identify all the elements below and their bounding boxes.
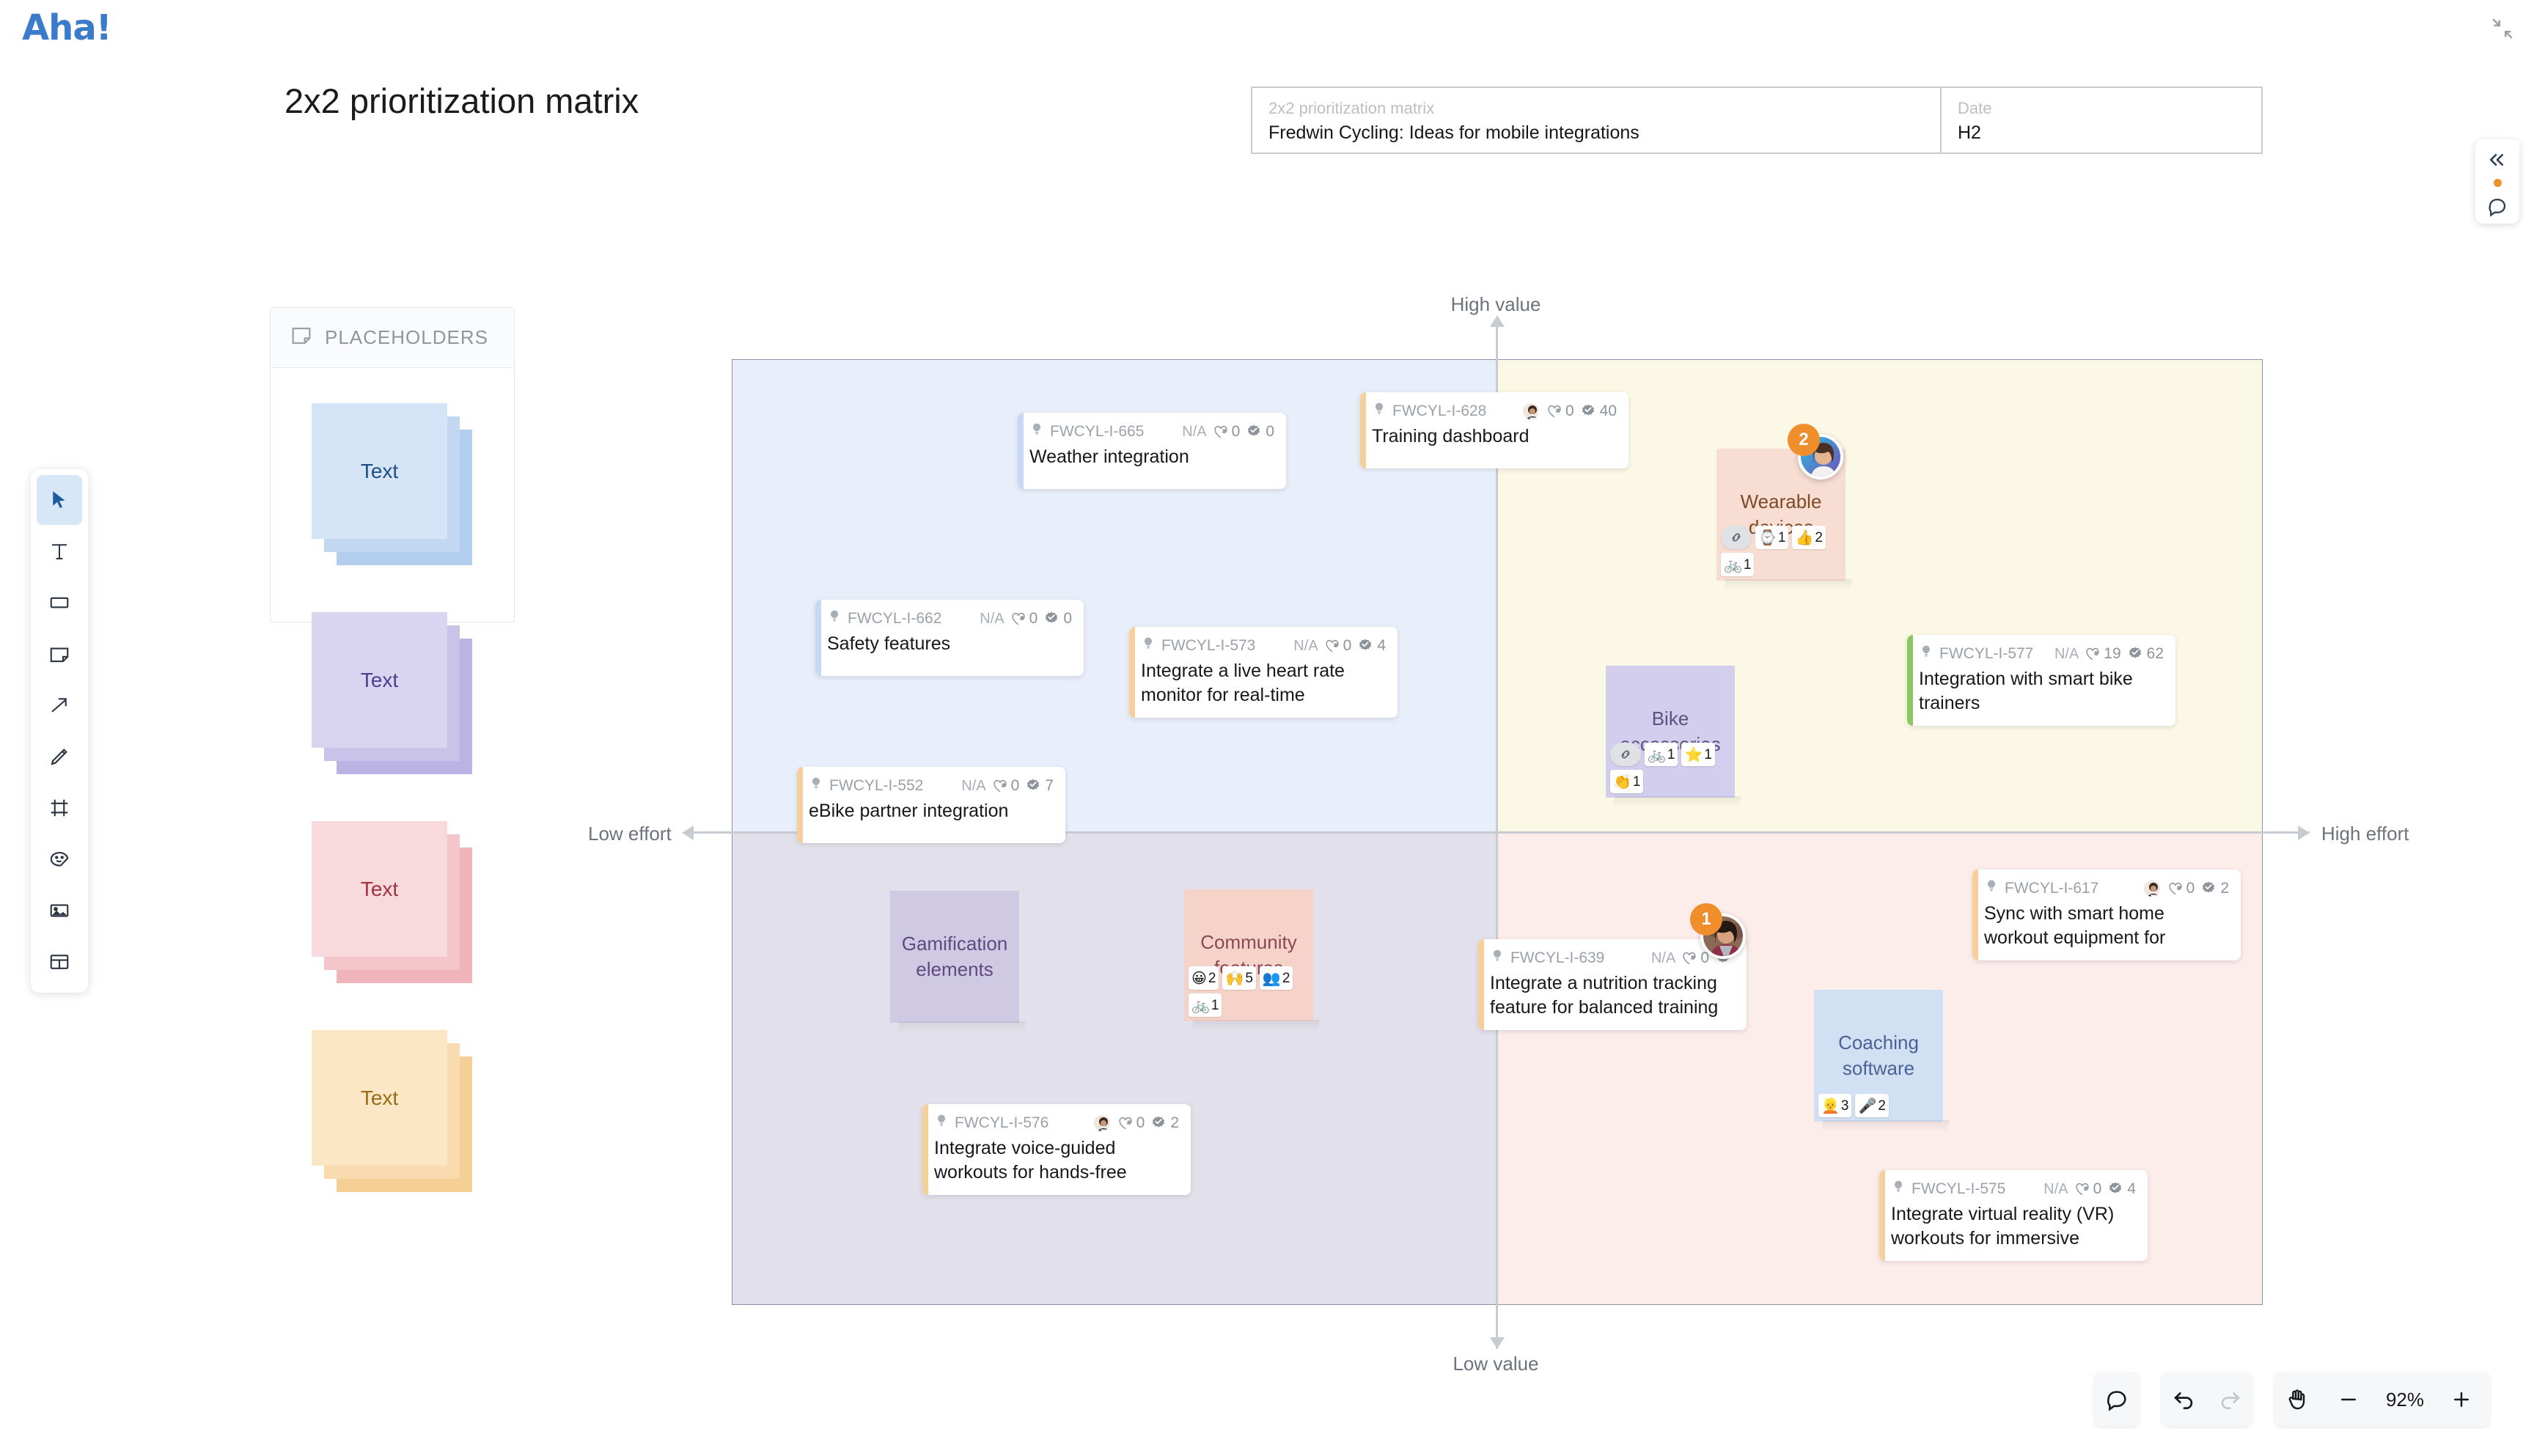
zoom-level-label[interactable]: 92% — [2371, 1389, 2439, 1411]
shape-tool[interactable] — [37, 578, 82, 628]
card-reference-id: FWCYL-I-665 — [1050, 423, 1144, 441]
idea-card[interactable]: FWCYL-I-665N/A00Weather integration — [1018, 413, 1286, 489]
card-reference-id: FWCYL-I-577 — [1939, 645, 2033, 663]
votes-count: 19 — [2085, 645, 2120, 663]
card-title: Sync with smart home workout equipment f… — [1984, 902, 2229, 950]
reaction-emoji: ⭐ — [1684, 742, 1703, 768]
info-cell-name[interactable]: 2x2 prioritization matrix Fredwin Cyclin… — [1252, 88, 1942, 152]
assignee-avatar[interactable] — [1521, 402, 1540, 421]
score-count: 62 — [2127, 645, 2164, 663]
axis-label-high-effort: High effort — [2321, 823, 2409, 845]
card-score-value: N/A — [2043, 1181, 2068, 1198]
reaction-chip[interactable]: ⌚1 — [1755, 526, 1788, 549]
reaction-count: 1 — [1667, 742, 1675, 768]
undo-icon[interactable] — [2162, 1372, 2207, 1427]
card-title: Integration with smart bike trainers — [1919, 667, 2164, 716]
placeholder-layer-front: Text — [312, 612, 447, 748]
select-tool[interactable] — [37, 475, 82, 525]
sticky-coaching-software[interactable]: Coaching software👱3🎤2 — [1814, 990, 1943, 1122]
reaction-count: 5 — [1245, 966, 1253, 991]
image-tool[interactable] — [37, 886, 82, 935]
redo-icon[interactable] — [2207, 1372, 2252, 1427]
reaction-count: 1 — [1704, 742, 1712, 768]
card-score-value: N/A — [2054, 646, 2079, 663]
page-title: 2x2 prioritization matrix — [284, 81, 639, 121]
zoom-out-button[interactable] — [2326, 1372, 2371, 1427]
card-color-bar — [1879, 1170, 1885, 1261]
text-tool[interactable] — [37, 526, 82, 576]
reaction-count: 1 — [1778, 525, 1786, 551]
idea-card[interactable]: FWCYL-I-628040Training dashboard — [1360, 392, 1628, 468]
card-reference-id: FWCYL-I-575 — [1911, 1180, 2005, 1198]
card-meta-row: FWCYL-I-61702 — [1984, 878, 2229, 899]
placeholder-stack[interactable]: Text — [312, 821, 447, 957]
placeholder-stack[interactable]: Text — [312, 1030, 447, 1166]
score-count: 2 — [2200, 880, 2229, 897]
info-cell-date[interactable]: Date H2 — [1942, 88, 2263, 152]
votes-count: 0 — [2074, 1180, 2102, 1198]
card-score-value: N/A — [980, 611, 1004, 628]
collapse-panel-button[interactable] — [2481, 145, 2513, 174]
placeholder-stack[interactable]: Text — [312, 612, 447, 748]
score-count: 0 — [1043, 610, 1072, 628]
sticky-reactions: 😀2🙌5👥2🚲1 — [1189, 966, 1309, 1017]
card-meta-row: FWCYL-I-575N/A04 — [1891, 1179, 2136, 1199]
document-info-card: 2x2 prioritization matrix Fredwin Cyclin… — [1251, 87, 2263, 154]
score-count: 40 — [1580, 402, 1617, 420]
reaction-count: 1 — [1211, 993, 1219, 1018]
card-title: Integrate voice-guided workouts for hand… — [934, 1136, 1179, 1185]
info-name-value: Fredwin Cycling: Ideas for mobile integr… — [1268, 120, 1924, 145]
aha-logo[interactable]: Aha! — [22, 7, 111, 48]
placeholders-title: PLACEHOLDERS — [325, 326, 488, 349]
placeholder-label: Text — [361, 460, 398, 483]
reaction-emoji: 😀 — [1191, 966, 1207, 991]
sticker-emoji-tool[interactable] — [37, 834, 82, 884]
zoom-controls: 92% — [2320, 1372, 2490, 1427]
info-name-label: 2x2 prioritization matrix — [1268, 98, 1924, 119]
zoom-in-button[interactable] — [2439, 1372, 2484, 1427]
idea-bulb-icon — [1919, 644, 1933, 663]
placeholder-layer-front: Text — [312, 403, 447, 539]
axis-label-high-value: High value — [1451, 293, 1541, 316]
info-date-value: H2 — [1958, 120, 2247, 145]
reaction-chip[interactable]: 👱3 — [1818, 1094, 1851, 1117]
card-score-value: N/A — [1293, 638, 1318, 655]
sticky-note-tool[interactable] — [37, 629, 82, 679]
reaction-link-icon[interactable] — [1721, 526, 1752, 549]
reaction-chip[interactable]: 👏1 — [1610, 770, 1643, 793]
card-title: Integrate virtual reality (VR) workouts … — [1891, 1202, 2136, 1251]
reaction-count: 2 — [1878, 1093, 1886, 1119]
placeholder-label: Text — [361, 878, 398, 901]
placeholder-label: Text — [361, 669, 398, 692]
placeholders-panel-header: PLACEHOLDERS — [271, 308, 514, 368]
reaction-emoji: 🙌 — [1225, 966, 1244, 991]
idea-bulb-icon — [1891, 1180, 1906, 1199]
info-date-label: Date — [1958, 98, 2247, 119]
quadrant-low-value-low-effort — [732, 832, 1497, 1304]
card-reference-id: FWCYL-I-573 — [1161, 637, 1255, 655]
votes-count: 0 — [1010, 610, 1038, 628]
card-reference-id: FWCYL-I-617 — [2005, 880, 2098, 897]
reaction-emoji: 🚲 — [1724, 552, 1742, 578]
sticky-reactions: ⌚1👍2🚲1 — [1721, 526, 1841, 576]
reaction-count: 3 — [1841, 1093, 1849, 1119]
reaction-chip[interactable]: 🎤2 — [1855, 1094, 1888, 1117]
card-title: Training dashboard — [1372, 424, 1617, 449]
card-meta-row: FWCYL-I-577N/A1962 — [1919, 644, 2164, 664]
card-reference-id: FWCYL-I-628 — [1392, 402, 1486, 420]
votes-count: 0 — [1117, 1114, 1145, 1132]
idea-bulb-icon — [809, 776, 823, 795]
reaction-chip[interactable]: 🚲1 — [1189, 993, 1222, 1017]
card-score-value: N/A — [961, 778, 985, 795]
card-title: Weather integration — [1029, 445, 1274, 469]
sticky-label: Coaching software — [1821, 1030, 1936, 1081]
reaction-emoji: 👏 — [1613, 769, 1631, 795]
reaction-emoji: 🎤 — [1858, 1093, 1876, 1119]
reaction-count: 1 — [1633, 769, 1641, 795]
card-meta-row: FWCYL-I-628040 — [1372, 401, 1617, 422]
comments-panel-button[interactable] — [2481, 191, 2513, 221]
card-title: Integrate a live heart rate monitor for … — [1141, 659, 1386, 707]
reaction-emoji: 🚲 — [1648, 742, 1666, 768]
reaction-emoji: ⌚ — [1758, 525, 1777, 551]
connector-arrow-tool[interactable] — [37, 680, 82, 730]
frame-tool[interactable] — [37, 783, 82, 833]
sticky-reactions: 🚲1⭐1👏1 — [1610, 743, 1730, 793]
card-color-bar — [1360, 392, 1366, 468]
assignee-avatar[interactable] — [2142, 879, 2162, 898]
card-meta-row: FWCYL-I-573N/A04 — [1141, 636, 1386, 656]
zoom-group: 92% — [2274, 1372, 2490, 1427]
unread-indicator-dot — [2494, 179, 2502, 187]
card-color-bar — [1018, 413, 1024, 489]
sticky-community-features[interactable]: Community features😀2🙌5👥2🚲1 — [1184, 889, 1313, 1021]
votes-count: 0 — [2167, 880, 2195, 897]
reaction-emoji: 👱 — [1821, 1093, 1840, 1119]
hand-pan-icon[interactable] — [2274, 1372, 2320, 1427]
card-reference-id: FWCYL-I-576 — [955, 1114, 1049, 1132]
score-count: 2 — [1150, 1114, 1179, 1132]
bottom-toolbar: 92% — [2094, 1372, 2490, 1427]
votes-count: 0 — [1324, 637, 1352, 655]
axis-label-low-effort: Low effort — [588, 823, 672, 845]
idea-card[interactable]: FWCYL-I-552N/A07eBike partner integratio… — [797, 767, 1065, 843]
undo-redo-group — [2162, 1372, 2252, 1427]
card-color-bar — [922, 1104, 928, 1195]
axis-vertical-line — [1496, 323, 1498, 1349]
comment-icon[interactable] — [2094, 1372, 2140, 1427]
card-score-value: N/A — [1651, 950, 1675, 967]
pencil-draw-tool[interactable] — [37, 732, 82, 782]
idea-card[interactable]: FWCYL-I-575N/A04Integrate virtual realit… — [1879, 1170, 2148, 1261]
card-color-bar — [797, 767, 803, 843]
card-meta-row: FWCYL-I-552N/A07 — [809, 776, 1054, 796]
card-color-bar — [815, 600, 821, 676]
assignee-avatar[interactable] — [1092, 1114, 1112, 1133]
placeholder-label: Text — [361, 1087, 398, 1110]
reaction-count: 1 — [1744, 552, 1752, 578]
card-meta-row: FWCYL-I-665N/A00 — [1029, 422, 1274, 442]
reaction-emoji: 🚲 — [1191, 993, 1210, 1018]
idea-card[interactable]: FWCYL-I-61702Sync with smart home workou… — [1972, 869, 2241, 960]
sticky-bike-accessories[interactable]: Bike accessories🚲1⭐1👏1 — [1606, 666, 1735, 798]
reaction-chip[interactable]: ⭐1 — [1681, 743, 1714, 766]
left-tool-rail — [31, 469, 88, 993]
placeholder-layer-front: Text — [312, 1030, 447, 1166]
axis-arrow-left — [682, 826, 694, 840]
sticky-gamification-elements[interactable]: Gamification elements — [890, 891, 1019, 1023]
presence-avatar-wearable[interactable]: 2 — [1788, 424, 1843, 479]
idea-card[interactable]: FWCYL-I-662N/A00Safety features — [815, 600, 1084, 676]
idea-card[interactable]: FWCYL-I-573N/A04Integrate a live heart r… — [1129, 627, 1398, 718]
card-color-bar — [1907, 635, 1913, 726]
right-side-panel — [2475, 139, 2519, 224]
idea-bulb-icon — [1141, 636, 1156, 655]
reaction-emoji: 👥 — [1263, 966, 1281, 991]
placeholder-layer-front: Text — [312, 821, 447, 957]
placeholder-stack[interactable]: Text — [312, 403, 447, 539]
sticky-label: Gamification elements — [897, 931, 1012, 982]
card-score-value: N/A — [1182, 424, 1206, 441]
card-title: Safety features — [827, 632, 1072, 656]
reaction-emoji: 👍 — [1795, 525, 1813, 551]
card-color-bar — [1129, 627, 1135, 718]
template-layout-tool[interactable] — [37, 937, 82, 987]
idea-card[interactable]: FWCYL-I-57602Integrate voice-guided work… — [922, 1104, 1191, 1195]
card-color-bar — [1972, 869, 1978, 960]
card-reference-id: FWCYL-I-662 — [848, 610, 941, 628]
axis-arrow-up — [1490, 315, 1505, 327]
presence-badge-count: 1 — [1690, 903, 1722, 935]
reaction-chip[interactable]: 🚲1 — [1645, 743, 1678, 766]
reaction-chip[interactable]: 👍2 — [1792, 526, 1825, 549]
axis-label-low-value: Low value — [1453, 1353, 1538, 1375]
idea-bulb-icon — [827, 609, 842, 628]
sticky-note-icon — [290, 324, 313, 351]
idea-bulb-icon — [1029, 422, 1044, 441]
presence-avatar-nutrition[interactable]: 1 — [1690, 903, 1746, 959]
score-count: 0 — [1246, 423, 1274, 441]
reaction-chip[interactable]: 🙌5 — [1222, 966, 1255, 990]
reaction-chip[interactable]: 😀2 — [1189, 966, 1219, 990]
placeholders-panel: PLACEHOLDERS TextTextTextText — [270, 307, 515, 622]
reaction-count: 2 — [1815, 525, 1823, 551]
comment-group — [2094, 1372, 2140, 1427]
reaction-chip[interactable]: 👥2 — [1260, 966, 1293, 990]
card-reference-id: FWCYL-I-552 — [829, 777, 923, 795]
idea-bulb-icon — [934, 1114, 949, 1133]
sticky-reactions: 👱3🎤2 — [1818, 1094, 1939, 1117]
idea-bulb-icon — [1372, 402, 1387, 421]
votes-count: 0 — [1546, 402, 1574, 420]
idea-bulb-icon — [1490, 949, 1505, 968]
score-count: 7 — [1025, 777, 1054, 795]
reaction-chip[interactable]: 🚲1 — [1721, 553, 1754, 576]
idea-bulb-icon — [1984, 879, 1999, 898]
reaction-count: 2 — [1282, 966, 1290, 991]
card-reference-id: FWCYL-I-639 — [1510, 949, 1604, 967]
reaction-count: 2 — [1208, 966, 1216, 991]
idea-card[interactable]: FWCYL-I-577N/A1962Integration with smart… — [1907, 635, 2175, 726]
score-count: 4 — [2107, 1180, 2136, 1198]
card-meta-row: FWCYL-I-662N/A00 — [827, 608, 1072, 629]
card-title: eBike partner integration — [809, 799, 1054, 823]
axis-arrow-right — [2298, 826, 2310, 840]
collapse-fullscreen-icon[interactable] — [2490, 16, 2515, 41]
votes-count: 0 — [992, 777, 1020, 795]
card-color-bar — [1478, 939, 1484, 1030]
axis-arrow-down — [1490, 1337, 1505, 1349]
reaction-link-icon[interactable] — [1610, 743, 1641, 766]
presence-badge-count: 2 — [1788, 424, 1820, 456]
card-meta-row: FWCYL-I-57602 — [934, 1113, 1179, 1133]
score-count: 4 — [1357, 637, 1386, 655]
card-title: Integrate a nutrition tracking feature f… — [1490, 971, 1735, 1020]
votes-count: 0 — [1213, 423, 1241, 441]
